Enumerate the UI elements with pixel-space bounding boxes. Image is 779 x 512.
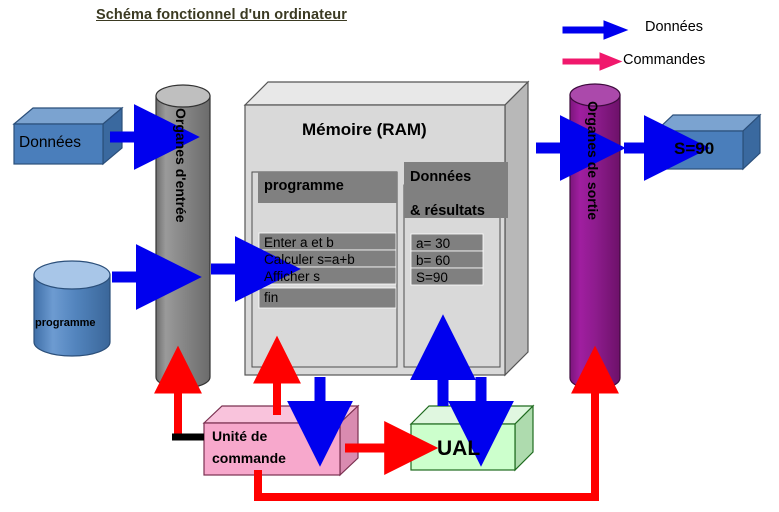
- program-line: Calculer s=a+b: [264, 252, 355, 267]
- organes-sortie-label: Organes de sortie: [585, 101, 601, 220]
- resultat-output-box-label: S=90: [674, 139, 714, 159]
- memoire-ram-title: Mémoire (RAM): [302, 120, 427, 140]
- legend-command-arrow-icon: [563, 53, 621, 70]
- organes-entree-label: Organes d'entrée: [173, 108, 189, 223]
- data-value-line: b= 60: [416, 253, 450, 268]
- program-line: fin: [264, 290, 278, 305]
- arrow-commande-to-entree: [172, 392, 204, 437]
- program-line: Afficher s: [264, 269, 320, 284]
- diagram-shapes-layer: [0, 0, 779, 512]
- donnees-panel-header-line1: Données: [410, 169, 471, 185]
- data-value-line: a= 30: [416, 236, 450, 251]
- ual-box-label: UAL: [437, 437, 480, 461]
- unite-commande-label-line1: Unité de: [212, 428, 267, 444]
- page-title: Schéma fonctionnel d'un ordinateur: [96, 7, 347, 23]
- legend-item-donnees-label: Données: [645, 19, 703, 35]
- donnees-panel-header-line2: & résultats: [410, 203, 485, 219]
- data-value-line: S=90: [416, 270, 448, 285]
- programme-panel-header: programme: [264, 178, 344, 194]
- unite-commande-label-line2: commande: [212, 450, 286, 466]
- programme-cylinder-shape: [34, 261, 110, 356]
- donnees-input-box-label: Données: [19, 134, 81, 152]
- diagram-canvas: Schéma fonctionnel d'un ordinateur Donné…: [0, 0, 779, 512]
- legend-item-commandes-label: Commandes: [623, 52, 705, 68]
- programme-cylinder-label: programme: [35, 317, 96, 329]
- program-line: Enter a et b: [264, 235, 334, 250]
- legend-data-arrow-icon: [563, 21, 627, 39]
